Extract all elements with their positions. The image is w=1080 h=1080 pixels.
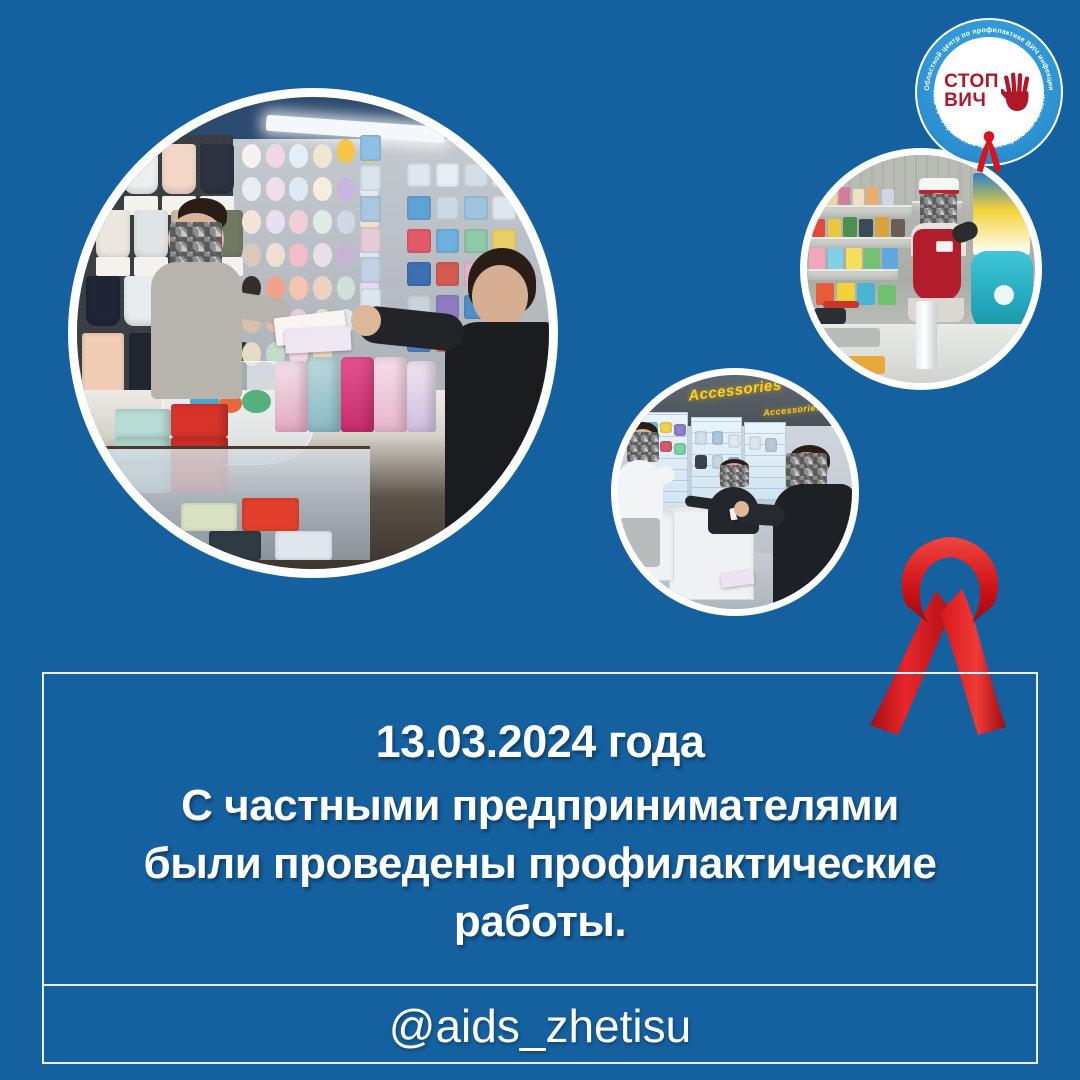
text-panel-body: 13.03.2024 года С частными предпринимате… (44, 674, 1036, 985)
poster-canvas: Accessories Accessories (0, 0, 1080, 1080)
message-line-2: были проведены профилактические (144, 835, 937, 893)
photo-grocery-kiosk (800, 148, 1042, 390)
person-visitor (370, 248, 549, 531)
red-hand-icon (1001, 72, 1034, 112)
photo-accessory-shop-main (68, 88, 558, 578)
person-seller (134, 201, 257, 437)
logo-stop-vich-text: СТОП ВИЧ (944, 73, 999, 110)
scene-phone-store: Accessories Accessories (618, 375, 852, 609)
social-handle[interactable]: @aids_zhetisu (389, 999, 691, 1053)
event-date: 13.03.2024 года (376, 714, 705, 770)
message-line-1: С частными предпринимателями (181, 777, 899, 835)
message-line-3: работы. (454, 893, 626, 951)
person-visitor-dark-jacket (758, 445, 852, 609)
scene-grocery-kiosk (807, 155, 1035, 383)
person-shop-clerk (900, 178, 978, 328)
logo-ribbon-icon (972, 129, 1006, 173)
text-panel: 13.03.2024 года С частными предпринимате… (42, 672, 1038, 1064)
stop-hiv-logo: «Областной центр по профилактике ВИЧ инф… (915, 18, 1063, 166)
logo-line-vich: ВИЧ (944, 92, 999, 111)
person-staff-white-tshirt (618, 422, 679, 567)
scene-accessory-shop (77, 97, 549, 569)
handle-row: @aids_zhetisu (44, 986, 1036, 1066)
photo-phone-accessories-store: Accessories Accessories (611, 368, 859, 616)
